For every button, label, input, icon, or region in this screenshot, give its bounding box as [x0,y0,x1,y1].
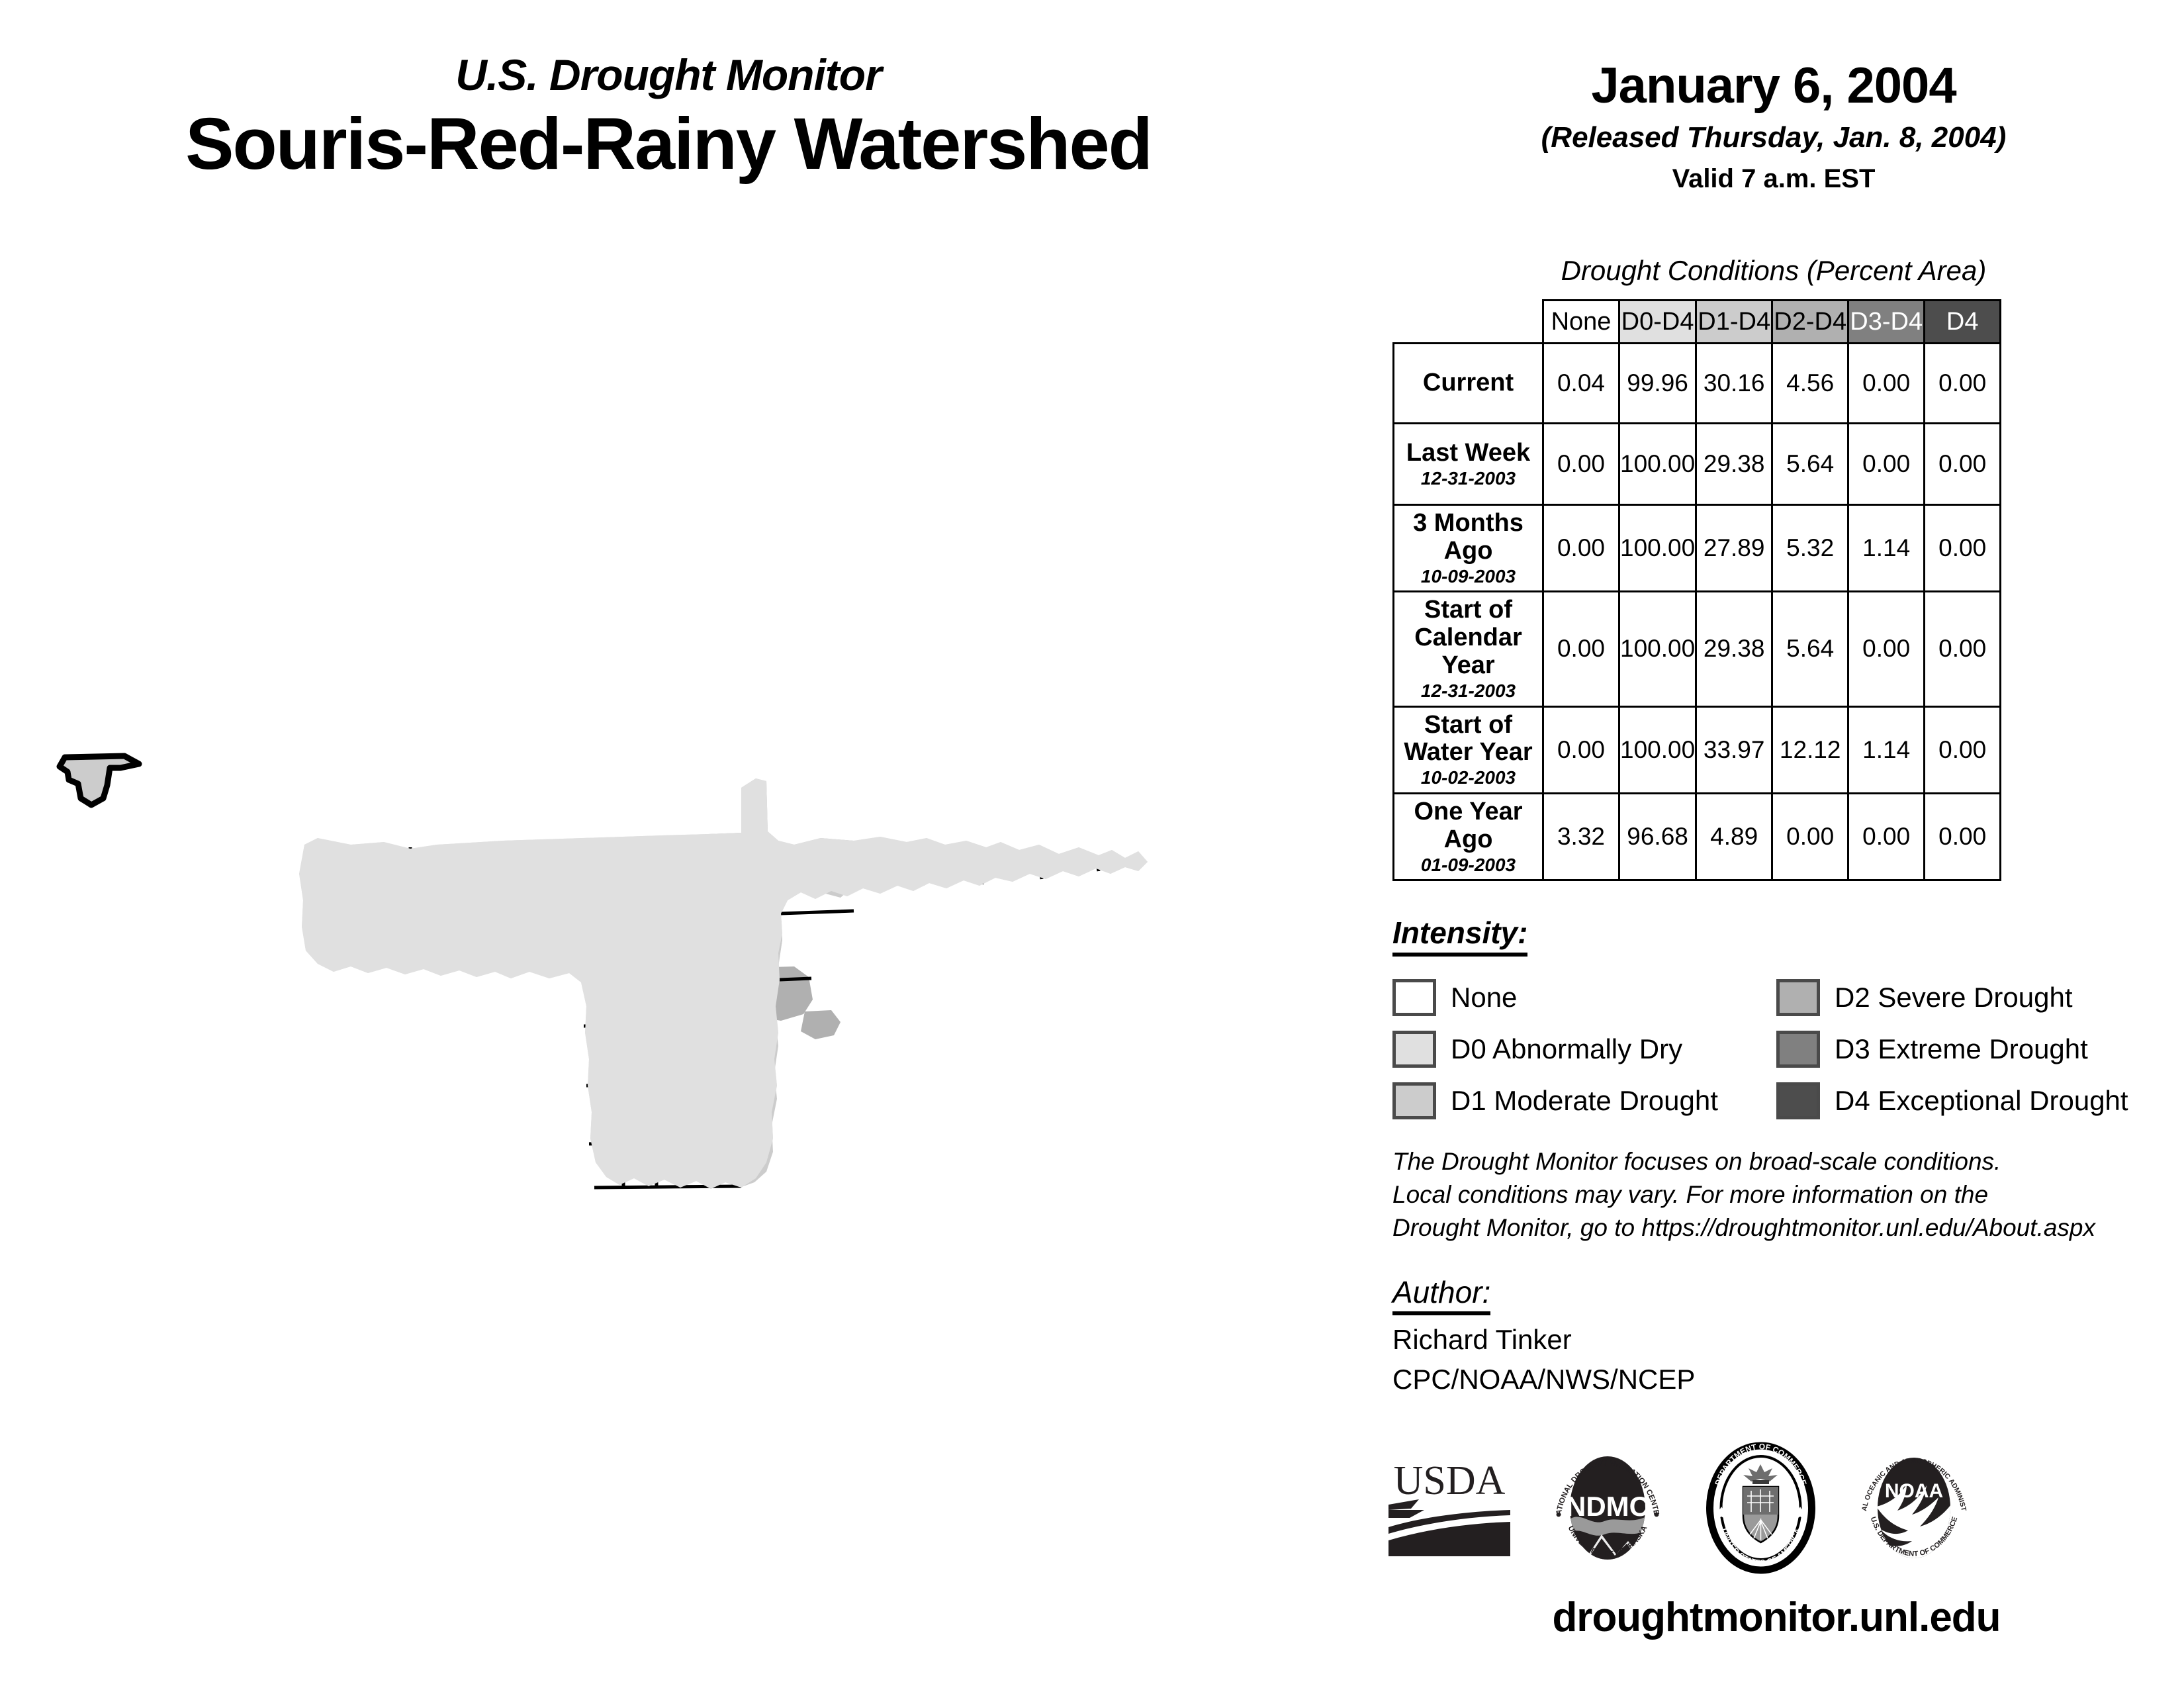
table-cell-none: 0.00 [1543,592,1619,706]
table-column-header-d1-d4: D1-D4 [1696,301,1772,344]
table-cell-none: 0.04 [1543,344,1619,424]
table-row: Current0.0499.9630.164.560.000.00 [1394,344,2001,424]
row-label-date: 12-31-2003 [1397,469,1539,489]
table-row: One Year Ago01-09-20033.3296.684.890.000… [1394,793,2001,880]
table-row: Start ofWater Year10-02-20030.00100.0033… [1394,706,2001,793]
table-cell-d4: 0.00 [1925,424,2001,505]
table-row-label: Current [1394,344,1543,424]
table-cell-d3-d4: 1.14 [1848,706,1925,793]
table-column-header-d2-d4: D2-D4 [1772,301,1848,344]
table-cell-d0-d4: 96.68 [1619,793,1696,880]
drought-conditions-table: NoneD0-D4D1-D4D2-D4D3-D4D4 Current0.0499… [1392,299,2001,881]
site-url: droughtmonitor.unl.edu [1392,1594,2160,1641]
legend-item-d0: D0 Abnormally Dry [1392,1031,1776,1068]
table-row-label: 3 Months Ago10-09-2003 [1394,505,1543,592]
table-column-header-none: None [1543,301,1619,344]
table-cell-d1-d4: 29.38 [1696,424,1772,505]
author-name: Richard Tinker [1392,1324,1572,1356]
legend-label-d1: D1 Moderate Drought [1451,1085,1718,1117]
table-row-label: Last Week12-31-2003 [1394,424,1543,505]
intensity-heading: Intensity: [1392,915,1527,957]
table-cell-d1-d4: 29.38 [1696,592,1772,706]
table-cell-d2-d4: 5.64 [1772,592,1848,706]
disclaimer-text: The Drought Monitor focuses on broad-sca… [1392,1145,2173,1244]
table-cell-d1-d4: 30.16 [1696,344,1772,424]
table-cell-d4: 0.00 [1925,706,2001,793]
table-body: Current0.0499.9630.164.560.000.00Last We… [1394,344,2001,880]
legend-swatch-none [1392,979,1436,1016]
valid-date: January 6, 2004 [1396,60,2151,113]
legend-label-d0: D0 Abnormally Dry [1451,1033,1682,1065]
table-corner-cell [1394,301,1543,344]
table-header-row: NoneD0-D4D1-D4D2-D4D3-D4D4 [1394,301,2001,344]
legend-item-d4: D4 Exceptional Drought [1776,1082,2160,1119]
row-label-name: Start ofCalendar Year [1397,596,1539,679]
table-cell-d3-d4: 0.00 [1848,424,1925,505]
disclaimer-line-3: Drought Monitor, go to https://droughtmo… [1392,1211,2173,1244]
legend-swatch-d4 [1776,1082,1820,1119]
table-caption: Drought Conditions (Percent Area) [1396,255,2151,287]
department-of-commerce-seal: DEPARTMENT OF COMMERCE UNITED STATES OF … [1700,1442,1822,1577]
table-cell-d2-d4: 0.00 [1772,793,1848,880]
map-area [40,715,1350,1311]
table-row-label: Start ofCalendar Year12-31-2003 [1394,592,1543,706]
released-date: (Released Thursday, Jan. 8, 2004) [1396,122,2151,154]
disclaimer-line-1: The Drought Monitor focuses on broad-sca… [1392,1145,2173,1178]
table-cell-none: 3.32 [1543,793,1619,880]
noaa-logo: NOAA NATIONAL OCEANIC AND ATMOSPHERIC AD… [1851,1442,1977,1577]
table-row-label: One Year Ago01-09-2003 [1394,793,1543,880]
table-column-header-d0-d4: D0-D4 [1619,301,1696,344]
table-cell-d1-d4: 27.89 [1696,505,1772,592]
legend-swatch-d3 [1776,1031,1820,1068]
table-cell-d3-d4: 0.00 [1848,344,1925,424]
author-heading: Author: [1392,1274,1490,1315]
table-cell-none: 0.00 [1543,505,1619,592]
legend-item-d3: D3 Extreme Drought [1776,1031,2160,1068]
table-cell-d4: 0.00 [1925,793,2001,880]
svg-text:NOAA: NOAA [1885,1480,1943,1502]
legend-label-d4: D4 Exceptional Drought [1835,1085,2128,1117]
legend-swatch-d1 [1392,1082,1436,1119]
ndmc-logo: NDMC NATIONAL DROUGHT MITIGATION CENTER … [1545,1442,1670,1577]
author-organization: CPC/NOAA/NWS/NCEP [1392,1364,1695,1395]
disclaimer-line-2: Local conditions may vary. For more info… [1392,1178,2173,1211]
table-column-header-d3-d4: D3-D4 [1848,301,1925,344]
legend-item-none: None [1392,979,1776,1016]
row-label-date: 10-02-2003 [1397,768,1539,788]
title-block: U.S. Drought Monitor Souris-Red-Rainy Wa… [0,53,1337,183]
logo-row: USDA [1383,1436,2164,1582]
table-cell-d0-d4: 100.00 [1619,706,1696,793]
legend-label-d3: D3 Extreme Drought [1835,1033,2088,1065]
table-cell-none: 0.00 [1543,424,1619,505]
souris-red-rainy-watershed-map [40,715,1350,1311]
table-cell-d2-d4: 5.64 [1772,424,1848,505]
row-label-date: 01-09-2003 [1397,855,1539,876]
table-cell-d1-d4: 4.89 [1696,793,1772,880]
table-cell-d1-d4: 33.97 [1696,706,1772,793]
row-label-date: 12-31-2003 [1397,681,1539,702]
svg-text:NDMC: NDMC [1566,1491,1649,1522]
table-cell-d3-d4: 1.14 [1848,505,1925,592]
table-row-label: Start ofWater Year10-02-2003 [1394,706,1543,793]
legend-swatch-d0 [1392,1031,1436,1068]
table-cell-d0-d4: 99.96 [1619,344,1696,424]
usda-logo: USDA [1383,1453,1516,1566]
page-supertitle: U.S. Drought Monitor [0,53,1337,97]
row-label-name: Current [1397,369,1539,397]
row-label-date: 10-09-2003 [1397,567,1539,587]
legend-item-d1: D1 Moderate Drought [1392,1082,1776,1119]
row-label-name: One Year Ago [1397,798,1539,854]
svg-text:USDA: USDA [1394,1458,1506,1503]
table-cell-d2-d4: 4.56 [1772,344,1848,424]
legend-label-none: None [1451,982,1517,1013]
table-cell-d2-d4: 12.12 [1772,706,1848,793]
legend-label-d2: D2 Severe Drought [1835,982,2073,1013]
table-cell-none: 0.00 [1543,706,1619,793]
date-header: January 6, 2004 (Released Thursday, Jan.… [1396,60,2151,193]
table-row: Start ofCalendar Year12-31-20030.00100.0… [1394,592,2001,706]
legend-item-d2: D2 Severe Drought [1776,979,2160,1016]
row-label-name: Last Week [1397,440,1539,467]
table-cell-d0-d4: 100.00 [1619,424,1696,505]
table-cell-d3-d4: 0.00 [1848,793,1925,880]
valid-time: Valid 7 a.m. EST [1396,164,2151,193]
table-cell-d4: 0.00 [1925,505,2001,592]
legend-swatch-d2 [1776,979,1820,1016]
table-cell-d0-d4: 100.00 [1619,505,1696,592]
row-label-name: 3 Months Ago [1397,510,1539,565]
map-watershed-body [299,778,1148,1189]
map-fragment-northwest [60,756,139,805]
table-cell-d4: 0.00 [1925,592,2001,706]
table-cell-d4: 0.00 [1925,344,2001,424]
row-label-name: Start ofWater Year [1397,712,1539,767]
table-cell-d2-d4: 5.32 [1772,505,1848,592]
table-row: 3 Months Ago10-09-20030.00100.0027.895.3… [1394,505,2001,592]
table-cell-d0-d4: 100.00 [1619,592,1696,706]
page-title: Souris-Red-Rainy Watershed [0,106,1337,183]
intensity-legend: NoneD2 Severe DroughtD0 Abnormally DryD3… [1392,972,2160,1127]
drought-monitor-page: U.S. Drought Monitor Souris-Red-Rainy Wa… [0,0,2184,1688]
table-row: Last Week12-31-20030.00100.0029.385.640.… [1394,424,2001,505]
table-column-header-d4: D4 [1925,301,2001,344]
table-cell-d3-d4: 0.00 [1848,592,1925,706]
